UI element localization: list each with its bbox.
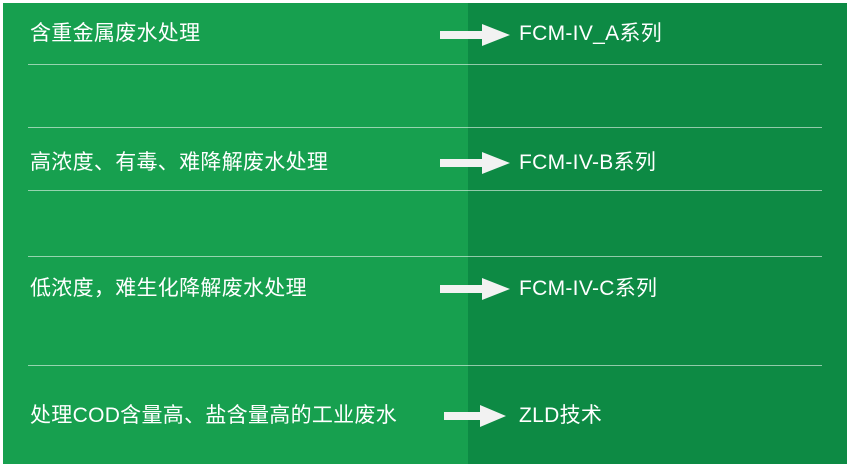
table-row: 低浓度，难生化降解废水处理 FCM-IV-C系列: [0, 127, 850, 190]
diagram-canvas: 含重金属废水处理 FCM-IV_A系列 高浓度、有毒、难降解废水处理 FCM-I…: [0, 0, 850, 467]
row-divider: [28, 256, 822, 257]
table-row: 涵盖工业废水从高浓度到低浓度 处理整个链条 SFAO3非膜法垃圾渗滤液 达标治理…: [0, 256, 850, 365]
row-divider: [28, 190, 822, 191]
row-right-label: FCM-IV_A系列: [519, 19, 839, 49]
row-list: 含重金属废水处理 FCM-IV_A系列 高浓度、有毒、难降解废水处理 FCM-I…: [0, 0, 850, 467]
table-row: 含重金属废水处理 FCM-IV_A系列: [0, 0, 850, 64]
right-arrow-icon: [440, 24, 510, 46]
row-divider: [28, 64, 822, 65]
table-row: 高浓度、有毒、难降解废水处理 FCM-IV-B系列: [0, 64, 850, 127]
row-divider: [28, 365, 822, 366]
table-row: 处理COD含量高、盐含量高的工业废水 ZLD技术: [0, 190, 850, 256]
row-left-label: 含重金属废水处理: [30, 19, 430, 49]
table-row: 去除重金属和有机污染物并且运 行费用低 含重金属废水自电解(FCM-IV) +生…: [0, 365, 850, 467]
row-divider: [28, 127, 822, 128]
